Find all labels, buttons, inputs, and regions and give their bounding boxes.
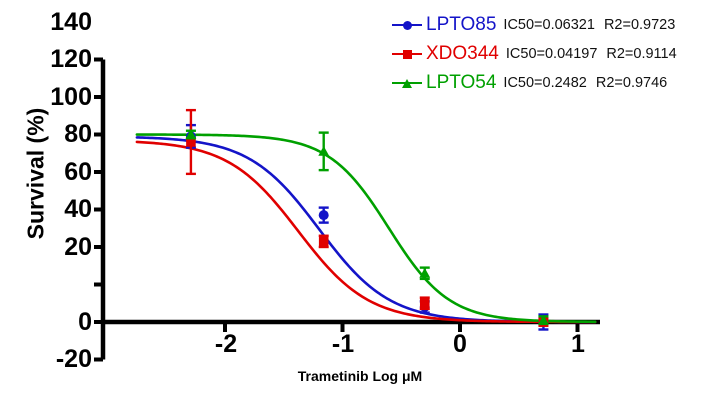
legend-marker-circle-icon	[392, 18, 422, 32]
y-axis-title: Survival (%)	[23, 94, 50, 254]
legend-ic50: IC50=0.2482	[503, 75, 586, 91]
legend-stats: IC50=0.06321R2=0.9723	[503, 17, 684, 33]
legend-ic50: IC50=0.06321	[503, 17, 595, 33]
legend-ic50: IC50=0.04197	[506, 46, 598, 62]
legend-label: XDO344	[426, 43, 499, 65]
legend-stats: IC50=0.04197R2=0.9114	[506, 46, 686, 62]
legend-stats: IC50=0.2482R2=0.9746	[503, 75, 676, 91]
y-tick-label: 0	[14, 308, 92, 337]
legend-label: LPTO85	[426, 14, 496, 36]
x-axis-title: Trametinib Log μM	[190, 368, 530, 384]
legend-item-xdo344: XDO344 IC50=0.04197R2=0.9114	[392, 39, 712, 68]
x-tick-label: 1	[548, 330, 608, 359]
data-point-xdo344	[186, 110, 196, 174]
legend-marker-triangle-icon	[392, 76, 422, 90]
x-tick-label: 0	[430, 330, 490, 359]
data-point-xdo344	[319, 236, 329, 247]
legend-r2: R2=0.9723	[604, 17, 675, 33]
y-tick-label: 140	[14, 8, 92, 37]
legend-marker-square-icon	[392, 47, 422, 61]
data-point-xdo344	[420, 298, 430, 309]
legend-item-lpto85: LPTO85 IC50=0.06321R2=0.9723	[392, 10, 712, 39]
y-tick-label: -20	[14, 345, 92, 374]
legend-r2: R2=0.9114	[606, 46, 676, 62]
legend-label: LPTO54	[426, 72, 496, 94]
dose-response-chart: 140 120 100 80 60 40 20 0 -20 -2 -1 0 1 …	[0, 0, 720, 408]
x-tick-label: -1	[313, 330, 373, 359]
y-tick-label: 120	[14, 45, 92, 74]
legend-r2: R2=0.9746	[596, 75, 667, 91]
x-tick-label: -2	[196, 330, 256, 359]
chart-legend: LPTO85 IC50=0.06321R2=0.9723 XDO344 IC50…	[392, 10, 712, 97]
legend-item-lpto54: LPTO54 IC50=0.2482R2=0.9746	[392, 68, 712, 97]
data-point-lpto85	[319, 208, 329, 223]
